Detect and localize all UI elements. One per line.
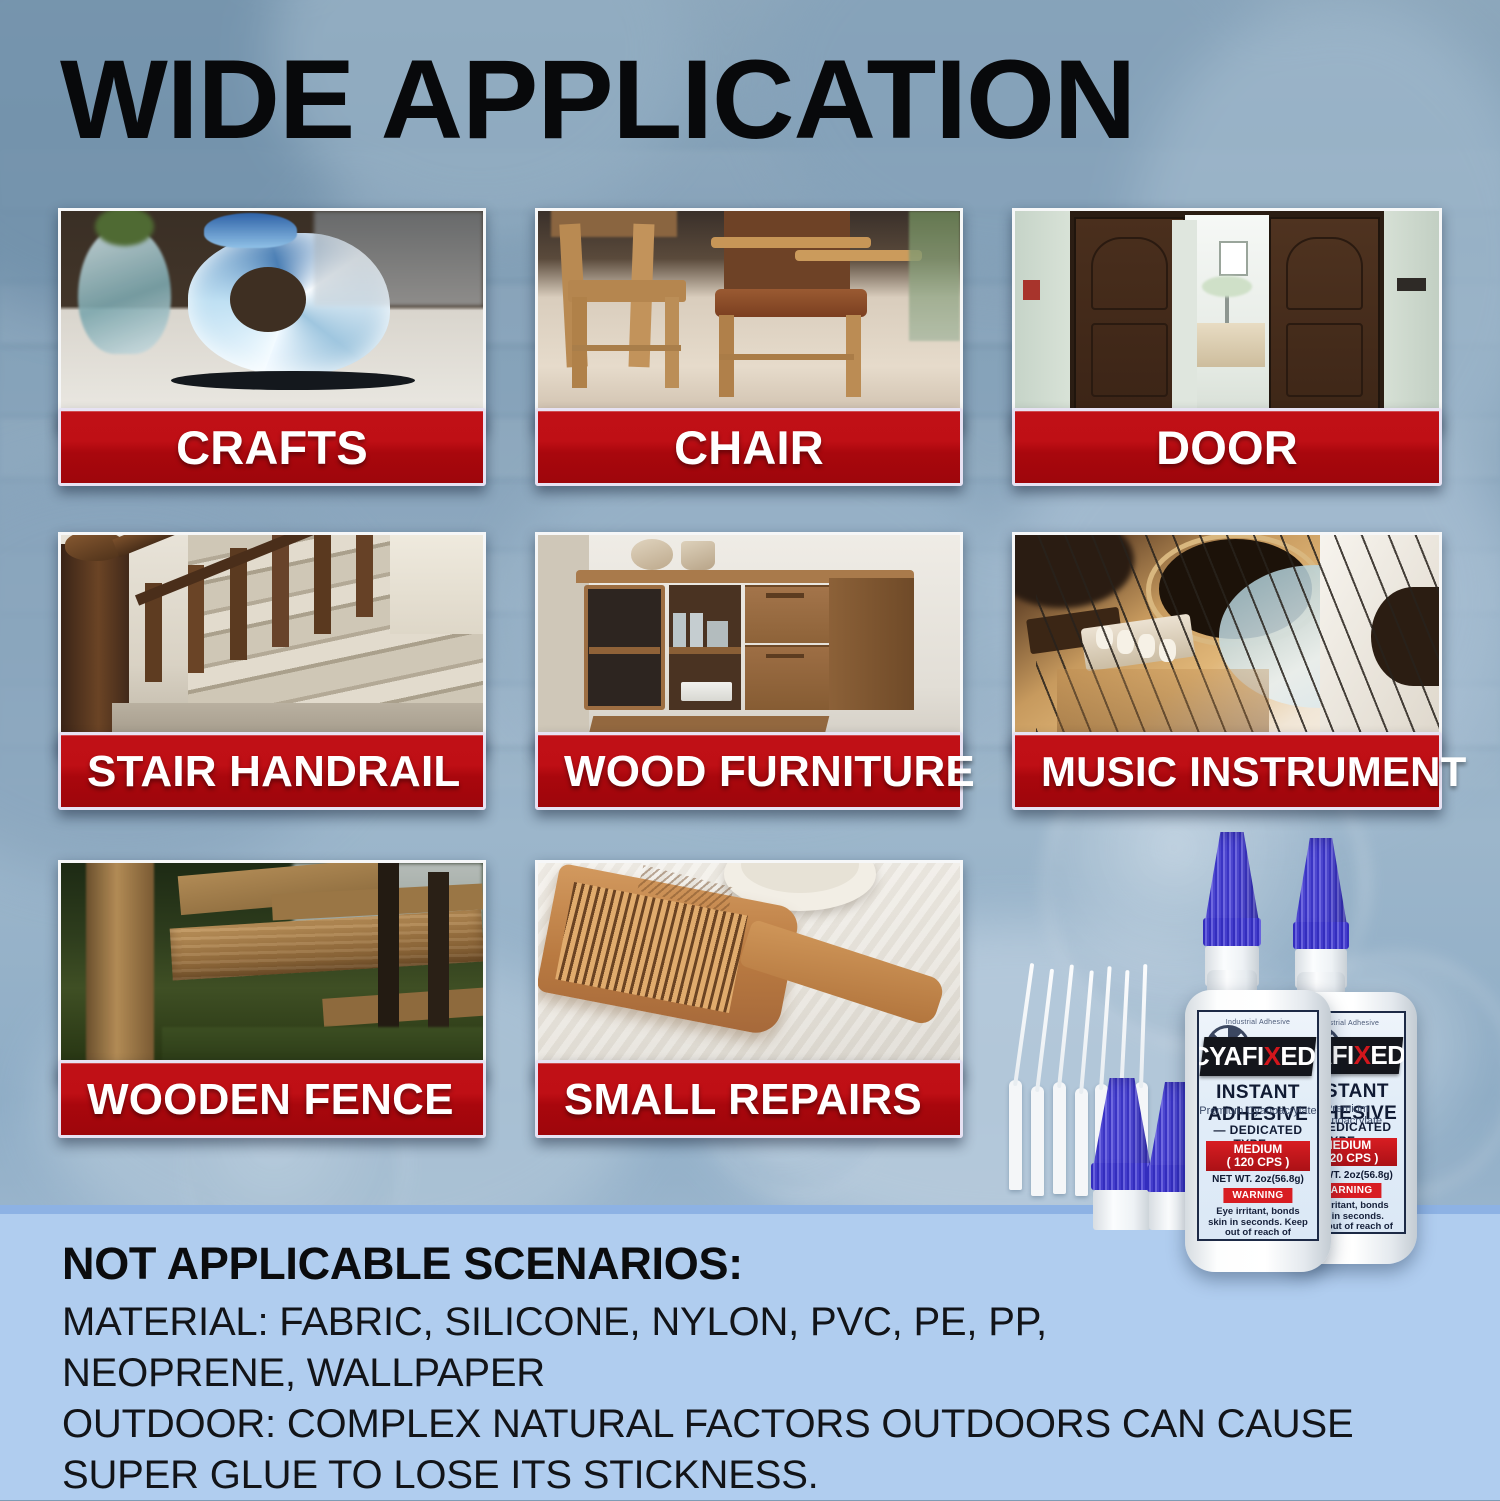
label-bar-chair: CHAIR bbox=[535, 408, 963, 486]
tile-chair[interactable]: CHAIR bbox=[535, 208, 963, 492]
notice-body: MATERIAL: FABRIC, SILICONE, NYLON, PVC, … bbox=[62, 1297, 1342, 1501]
net-weight: NET WT. 2oz(56.8g) bbox=[1199, 1174, 1318, 1185]
tile-wood-furniture[interactable]: WOOD FURNITURE bbox=[535, 532, 963, 816]
page-title: WIDE APPLICATION bbox=[60, 44, 1483, 156]
stair-handrail-photo bbox=[58, 532, 486, 754]
label-bar-wood-furniture: WOOD FURNITURE bbox=[535, 732, 963, 810]
brand-plate: CYAFIXED™ bbox=[1200, 1037, 1316, 1076]
wooden-fence-photo bbox=[58, 860, 486, 1082]
applicator-tip bbox=[1009, 1080, 1022, 1190]
tile-label: SMALL REPAIRS bbox=[538, 1076, 960, 1123]
door-photo bbox=[1012, 208, 1442, 430]
tile-crafts[interactable]: CRAFTS bbox=[58, 208, 486, 492]
product-photo: Industrial Adhesive CYAFIXED™ INSTANT AD… bbox=[995, 830, 1465, 1280]
label-bar-music-instrument: MUSIC INSTRUMENT bbox=[1012, 732, 1442, 810]
warning-badge: WARNING bbox=[1223, 1188, 1292, 1203]
music-instrument-photo bbox=[1012, 532, 1442, 754]
label-line-2: Premium Cyanoacrylate bbox=[1199, 1105, 1318, 1117]
label-bar-stair-handrail: STAIR HANDRAIL bbox=[58, 732, 486, 810]
label-bar-door: DOOR bbox=[1012, 408, 1442, 486]
warning-text: Eye irritant, bonds skin in seconds. Kee… bbox=[1207, 1207, 1309, 1241]
tile-music-instrument[interactable]: MUSIC INSTRUMENT bbox=[1012, 532, 1442, 816]
viscosity-sub: ( 120 CPS ) bbox=[1227, 1156, 1290, 1169]
notice-heading: NOT APPLICABLE SCENARIOS: bbox=[62, 1241, 743, 1286]
bottle-cap bbox=[1203, 832, 1261, 986]
applicator-tip bbox=[1075, 1088, 1088, 1196]
spare-cap bbox=[1091, 1078, 1153, 1230]
chair-photo bbox=[535, 208, 963, 430]
bottle-label: Industrial Adhesive CYAFIXED™ INSTANT AD… bbox=[1197, 1010, 1320, 1241]
notice-line: MATERIAL: FABRIC, SILICONE, NYLON, PVC, … bbox=[62, 1297, 1342, 1348]
label-bar-crafts: CRAFTS bbox=[58, 408, 486, 486]
tile-label: CHAIR bbox=[538, 424, 960, 471]
tile-wooden-fence[interactable]: WOODEN FENCE bbox=[58, 860, 486, 1144]
tile-label: DOOR bbox=[1015, 424, 1439, 471]
applicator-tip bbox=[1053, 1082, 1066, 1194]
label-top-tiny: Industrial Adhesive bbox=[1199, 1019, 1318, 1026]
label-bar-small-repairs: SMALL REPAIRS bbox=[535, 1060, 963, 1138]
notice-line: NEOPRENE, WALLPAPER bbox=[62, 1348, 1342, 1399]
bottle-body: Industrial Adhesive CYAFIXED™ INSTANT AD… bbox=[1185, 990, 1331, 1272]
brand-name: CYAFIXED™ bbox=[1197, 1041, 1320, 1072]
bottle-cap bbox=[1293, 838, 1349, 988]
notice-line: SUPER GLUE TO LOSE ITS STICKNESS. bbox=[62, 1450, 1342, 1501]
applicator-tip bbox=[1031, 1086, 1044, 1196]
viscosity-band: MEDIUM ( 120 CPS ) bbox=[1206, 1141, 1310, 1171]
tile-small-repairs[interactable]: SMALL REPAIRS bbox=[535, 860, 963, 1144]
label-bar-wooden-fence: WOODEN FENCE bbox=[58, 1060, 486, 1138]
tile-label: CRAFTS bbox=[61, 424, 483, 471]
notice-line: OUTDOOR: COMPLEX NATURAL FACTORS OUTDOOR… bbox=[62, 1399, 1342, 1450]
tile-door[interactable]: DOOR bbox=[1012, 208, 1442, 492]
wood-furniture-photo bbox=[535, 532, 963, 754]
tile-stair-handrail[interactable]: STAIR HANDRAIL bbox=[58, 532, 486, 816]
small-repairs-photo bbox=[535, 860, 963, 1082]
tile-label: WOOD FURNITURE bbox=[538, 748, 960, 795]
crafts-photo bbox=[58, 208, 486, 430]
tile-label: STAIR HANDRAIL bbox=[61, 748, 483, 795]
tile-label: WOODEN FENCE bbox=[61, 1076, 483, 1123]
tile-label: MUSIC INSTRUMENT bbox=[1015, 748, 1439, 795]
